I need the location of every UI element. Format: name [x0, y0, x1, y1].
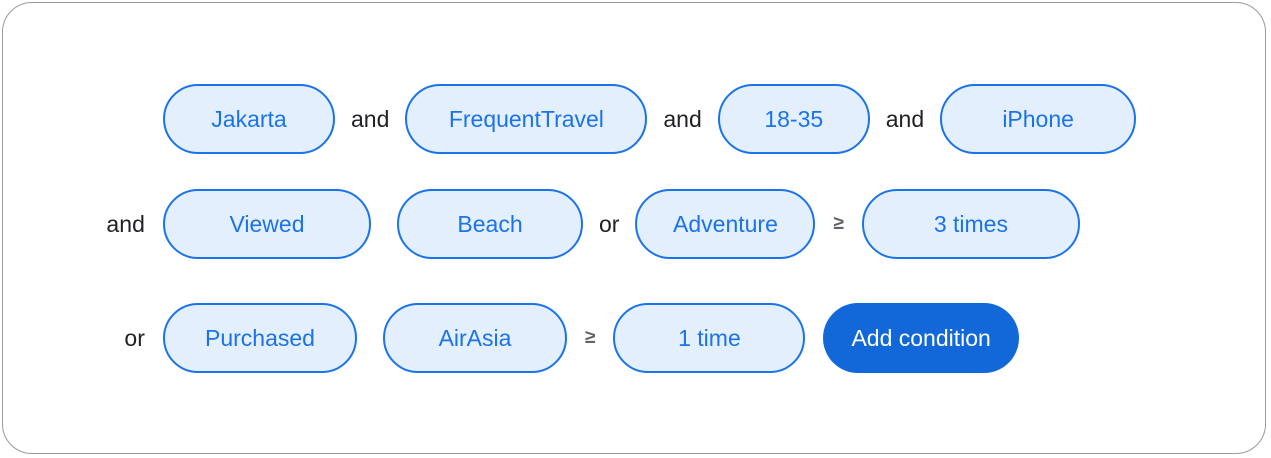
condition-pill-jakarta[interactable]: Jakarta [163, 84, 335, 154]
connector-and-3: and [886, 106, 924, 133]
connector-and-1: and [351, 106, 389, 133]
connector-and-2: and [663, 106, 701, 133]
add-condition-button[interactable]: Add condition [823, 303, 1018, 373]
condition-pill-purchased[interactable]: Purchased [163, 303, 357, 373]
condition-pill-frequenttravel[interactable]: FrequentTravel [405, 84, 647, 154]
operator-gte-row-2: ≥ [833, 213, 843, 235]
condition-row-3: or Purchased AirAsia ≥ 1 time Add condit… [3, 302, 1265, 374]
connector-or-1: or [599, 211, 619, 238]
operator-gte-row-3: ≥ [585, 327, 595, 349]
condition-pill-viewed[interactable]: Viewed [163, 189, 371, 259]
row-2-lead-connector-and: and [106, 211, 145, 238]
row-3-lead-connector-or: or [124, 325, 145, 352]
condition-pill-three-times[interactable]: 3 times [862, 189, 1080, 259]
condition-pill-adventure[interactable]: Adventure [635, 189, 815, 259]
row-3-lead-gutter: or [3, 325, 163, 352]
condition-pill-iphone[interactable]: iPhone [940, 84, 1136, 154]
condition-pill-airasia[interactable]: AirAsia [383, 303, 567, 373]
condition-pill-beach[interactable]: Beach [397, 189, 583, 259]
condition-builder-card: Jakarta and FrequentTravel and 18-35 and… [2, 2, 1266, 454]
row-2-lead-gutter: and [3, 211, 163, 238]
condition-rows: Jakarta and FrequentTravel and 18-35 and… [3, 3, 1265, 453]
condition-pill-age-range[interactable]: 18-35 [718, 84, 870, 154]
condition-pill-one-time[interactable]: 1 time [613, 303, 805, 373]
condition-row-2: and Viewed Beach or Adventure ≥ 3 times [3, 188, 1265, 260]
condition-row-1: Jakarta and FrequentTravel and 18-35 and… [3, 83, 1265, 155]
